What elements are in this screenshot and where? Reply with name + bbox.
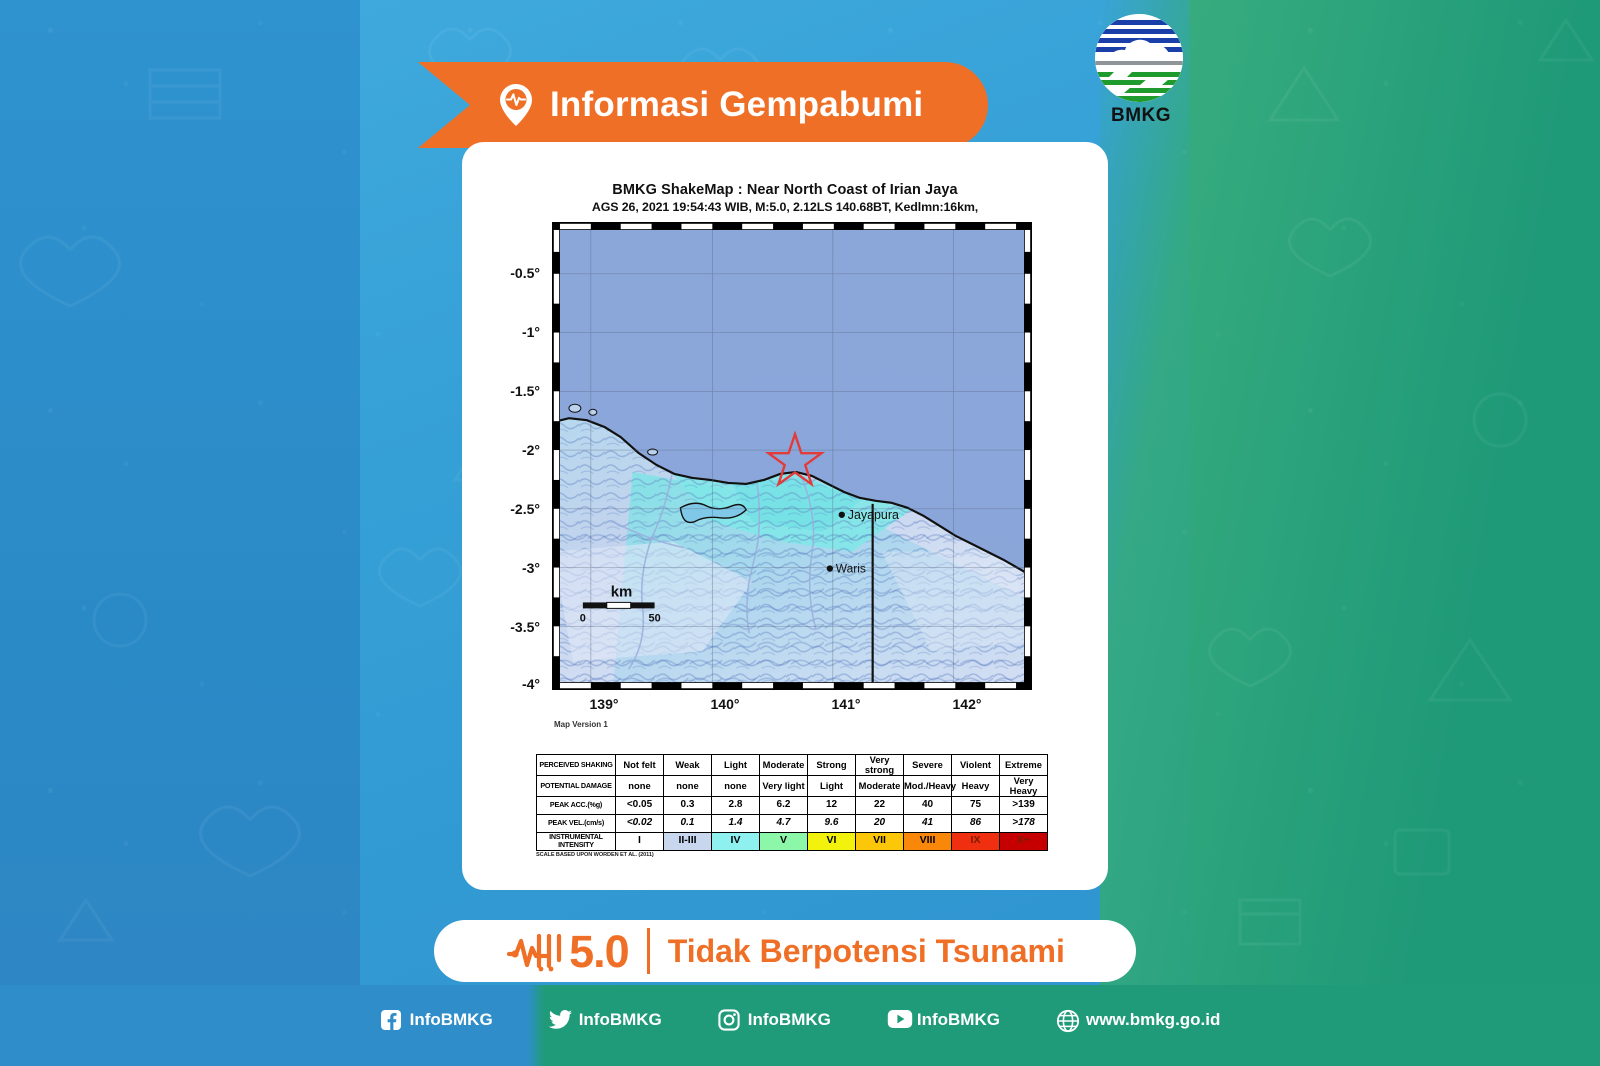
cell: 4.7: [760, 814, 808, 832]
social-link-website[interactable]: www.bmkg.go.id: [1056, 1009, 1220, 1031]
table-row-potential-damage: POTENTIAL DAMAGE none none none Very lig…: [537, 775, 1048, 796]
cell: Light: [712, 755, 760, 776]
social-link-instagram[interactable]: InfoBMKG: [718, 1009, 831, 1031]
social-label: www.bmkg.go.id: [1086, 1010, 1220, 1030]
cell: Weak: [664, 755, 712, 776]
intensity-cell: II-III: [664, 832, 712, 850]
globe-icon: [1056, 1009, 1078, 1031]
svg-text:0: 0: [580, 612, 586, 624]
lat-tick: -0.5°: [510, 265, 540, 281]
lat-tick: -2.5°: [510, 501, 540, 517]
row-header: PEAK ACC.(%g): [537, 796, 616, 814]
cell: Severe: [904, 755, 952, 776]
social-label: InfoBMKG: [579, 1010, 662, 1030]
social-link-twitter[interactable]: InfoBMKG: [549, 1009, 662, 1031]
social-label: InfoBMKG: [410, 1010, 493, 1030]
cell: 0.1: [664, 814, 712, 832]
lon-tick: 140°: [711, 696, 740, 712]
social-footer: InfoBMKG InfoBMKG InfoBMKG: [0, 995, 1600, 1045]
cell: <0.02: [616, 814, 664, 832]
cell: Strong: [808, 755, 856, 776]
intensity-cell: IV: [712, 832, 760, 850]
social-link-youtube[interactable]: InfoBMKG: [887, 1009, 1000, 1031]
location-pin-seismograph-icon: [496, 82, 536, 128]
cell: Very strong: [856, 755, 904, 776]
instagram-icon: [718, 1009, 740, 1031]
cell: <0.05: [616, 796, 664, 814]
svg-text:Jayapura: Jayapura: [848, 508, 899, 522]
svg-text:Waris: Waris: [836, 562, 866, 576]
social-label: InfoBMKG: [917, 1010, 1000, 1030]
lon-tick: 139°: [590, 696, 619, 712]
intensity-scale-table: PERCEIVED SHAKING Not felt Weak Light Mo…: [536, 754, 1048, 858]
intensity-cell: VII: [856, 832, 904, 850]
social-link-facebook[interactable]: InfoBMKG: [380, 1009, 493, 1031]
shakemap-subtitle: AGS 26, 2021 19:54:43 WIB, M:5.0, 2.12LS…: [472, 200, 1098, 214]
lat-tick: -2°: [522, 442, 540, 458]
cell: Mod./Heavy: [904, 775, 952, 796]
table-row-peak-vel: PEAK VEL.(cm/s) <0.02 0.1 1.4 4.7 9.6 20…: [537, 814, 1048, 832]
cell: Very Heavy: [1000, 775, 1048, 796]
tsunami-status-text: Tidak Berpotensi Tsunami: [668, 933, 1065, 970]
cell: 75: [952, 796, 1000, 814]
cell: none: [616, 775, 664, 796]
row-header: PERCEIVED SHAKING: [537, 755, 616, 776]
cell: 12: [808, 796, 856, 814]
banner-divider: [647, 928, 650, 974]
table-row-instrumental-intensity: INSTRUMENTAL INTENSITY I II-III IV V VI …: [537, 832, 1048, 850]
cell: Not felt: [616, 755, 664, 776]
cell: >178: [1000, 814, 1048, 832]
shakemap-title: BMKG ShakeMap : Near North Coast of Iria…: [472, 182, 1098, 199]
table-row-peak-acc: PEAK ACC.(%g) <0.05 0.3 2.8 6.2 12 22 40…: [537, 796, 1048, 814]
row-header: POTENTIAL DAMAGE: [537, 775, 616, 796]
lat-tick: -4°: [522, 676, 540, 692]
twitter-icon: [549, 1009, 571, 1031]
table-row-perceived-shaking: PERCEIVED SHAKING Not felt Weak Light Mo…: [537, 755, 1048, 776]
cell: Moderate: [760, 755, 808, 776]
cell: 1.4: [712, 814, 760, 832]
cell: 41: [904, 814, 952, 832]
longitude-axis: 139° 140° 141° 142°: [552, 696, 1032, 720]
shakemap-figure: BMKG ShakeMap : Near North Coast of Iria…: [472, 182, 1098, 854]
seismograph-icon: [505, 930, 567, 972]
cell: Very light: [760, 775, 808, 796]
bmkg-logo-text: BMKG: [1095, 105, 1187, 127]
cell: 2.8: [712, 796, 760, 814]
cell: Light: [808, 775, 856, 796]
cell: 9.6: [808, 814, 856, 832]
social-label: InfoBMKG: [748, 1010, 831, 1030]
header-ribbon: Informasi Gempabumi: [418, 62, 988, 148]
magnitude-banner: 5.0 Tidak Berpotensi Tsunami: [434, 920, 1136, 982]
intensity-cell: VIII: [904, 832, 952, 850]
poster-canvas: Informasi Gempabumi: [0, 0, 1600, 1066]
magnitude-value: 5.0: [569, 929, 629, 974]
lat-tick: -1°: [522, 324, 540, 340]
cell: Violent: [952, 755, 1000, 776]
map-version-label: Map Version 1: [554, 720, 608, 729]
table-footnote: SCALE BASED UPON WORDEN ET AL. (2011): [536, 852, 1048, 858]
cell: none: [664, 775, 712, 796]
lon-tick: 142°: [953, 696, 982, 712]
cell: 86: [952, 814, 1000, 832]
intensity-cell: I: [616, 832, 664, 850]
cell: 6.2: [760, 796, 808, 814]
latitude-axis: -0.5° -1° -1.5° -2° -2.5° -3° -3.5° -4°: [472, 222, 544, 692]
intensity-cell: V: [760, 832, 808, 850]
row-header: PEAK VEL.(cm/s): [537, 814, 616, 832]
cell: none: [712, 775, 760, 796]
cell: >139: [1000, 796, 1048, 814]
svg-text:km: km: [611, 584, 633, 601]
cell: 40: [904, 796, 952, 814]
cell: Moderate: [856, 775, 904, 796]
map-area: -0.5° -1° -1.5° -2° -2.5° -3° -3.5° -4°: [472, 222, 1098, 702]
row-header: INSTRUMENTAL INTENSITY: [537, 832, 616, 850]
intensity-cell: X+: [1000, 832, 1048, 850]
cell: 20: [856, 814, 904, 832]
facebook-icon: [380, 1009, 402, 1031]
cell: Extreme: [1000, 755, 1048, 776]
shakemap-map[interactable]: Jayapura Waris km 0 50: [552, 222, 1032, 690]
intensity-cell: VI: [808, 832, 856, 850]
cell: 0.3: [664, 796, 712, 814]
bmkg-logo-icon: [1095, 14, 1183, 102]
svg-text:50: 50: [648, 612, 660, 624]
header-title: Informasi Gempabumi: [550, 85, 923, 125]
cell: Heavy: [952, 775, 1000, 796]
lat-tick: -1.5°: [510, 383, 540, 399]
lat-tick: -3°: [522, 560, 540, 576]
cell: 22: [856, 796, 904, 814]
youtube-icon: [887, 1009, 909, 1031]
lat-tick: -3.5°: [510, 619, 540, 635]
intensity-cell: IX: [952, 832, 1000, 850]
bmkg-logo: BMKG: [1095, 14, 1187, 132]
lon-tick: 141°: [832, 696, 861, 712]
